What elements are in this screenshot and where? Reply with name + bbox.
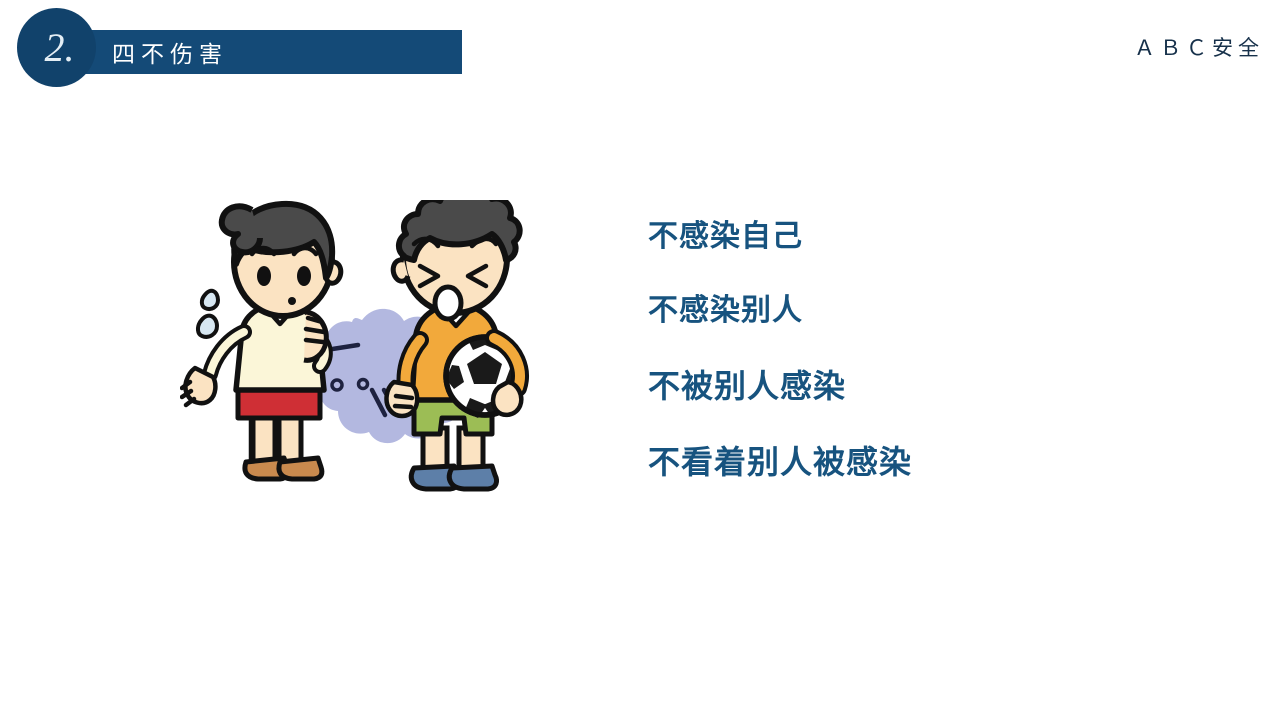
bullet-list: 不感染自己 不感染别人 不被别人感染 不看着别人被感染 — [648, 222, 1048, 478]
two-children-cough-illustration: .ol { stroke:#111111; stroke-width:6; st… — [180, 200, 580, 510]
slide-root: 2. 四不伤害 ＡＢＣ安全 .ol { stroke:#111111; stro… — [0, 0, 1280, 720]
boy-figure — [387, 200, 524, 489]
sweat-drops-icon — [198, 291, 218, 337]
bullet-item-1: 不感染自己 — [648, 222, 1048, 252]
bullet-item-4: 不看着别人被感染 — [648, 446, 1048, 478]
brand-logo-text: ＡＢＣ安全 — [1134, 32, 1264, 62]
page-title: 四不伤害 — [112, 30, 228, 74]
header-number: 2. — [17, 8, 96, 87]
girl-figure — [182, 204, 341, 479]
bullet-item-2: 不感染别人 — [648, 296, 1048, 326]
bullet-item-3: 不被别人感染 — [648, 370, 1048, 402]
